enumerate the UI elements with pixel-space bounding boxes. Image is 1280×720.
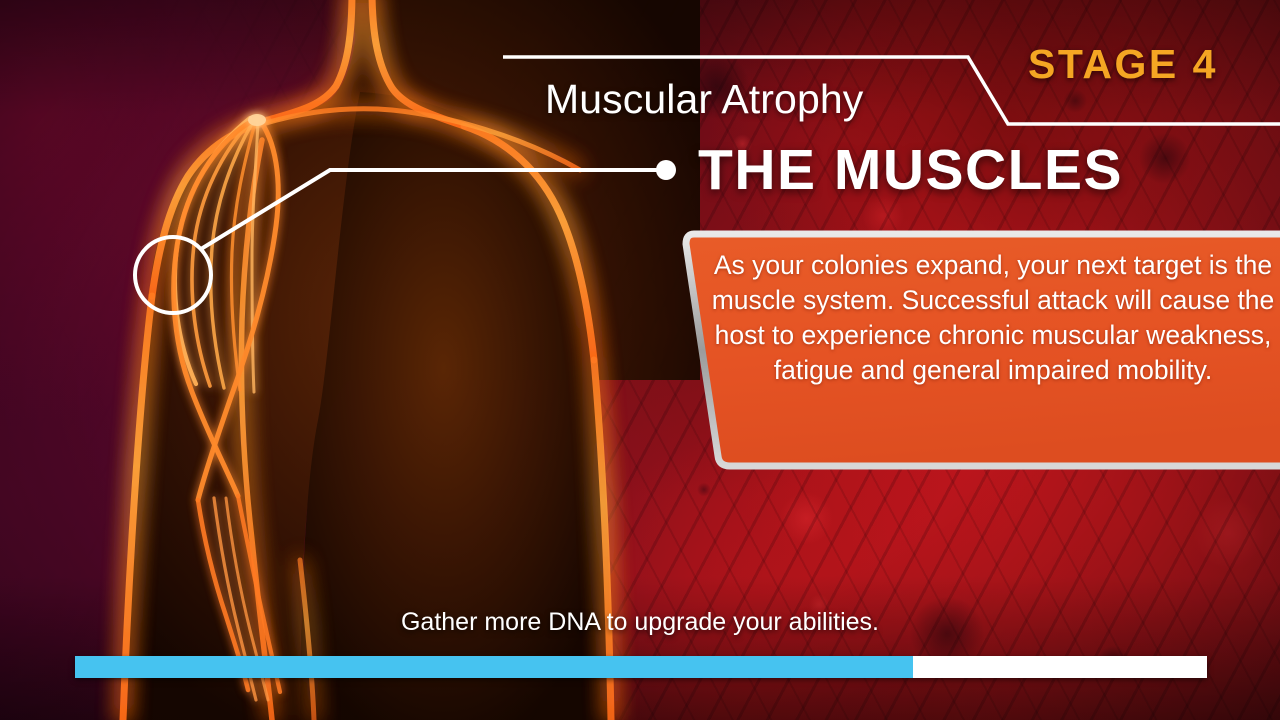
page-title: THE MUSCLES xyxy=(698,137,1123,203)
disease-subtitle: Muscular Atrophy xyxy=(545,76,863,123)
dna-progress-bar[interactable] xyxy=(75,656,1207,678)
description-panel: As your colonies expand, your next targe… xyxy=(676,226,1280,472)
description-panel-text: As your colonies expand, your next targe… xyxy=(710,248,1276,388)
game-screen: Muscular Atrophy STAGE 4 THE MUSCLES As … xyxy=(0,0,1280,720)
hint-text: Gather more DNA to upgrade your abilitie… xyxy=(0,608,1280,637)
stage-indicator: STAGE 4 xyxy=(1028,41,1218,88)
dna-progress-fill xyxy=(75,656,913,678)
